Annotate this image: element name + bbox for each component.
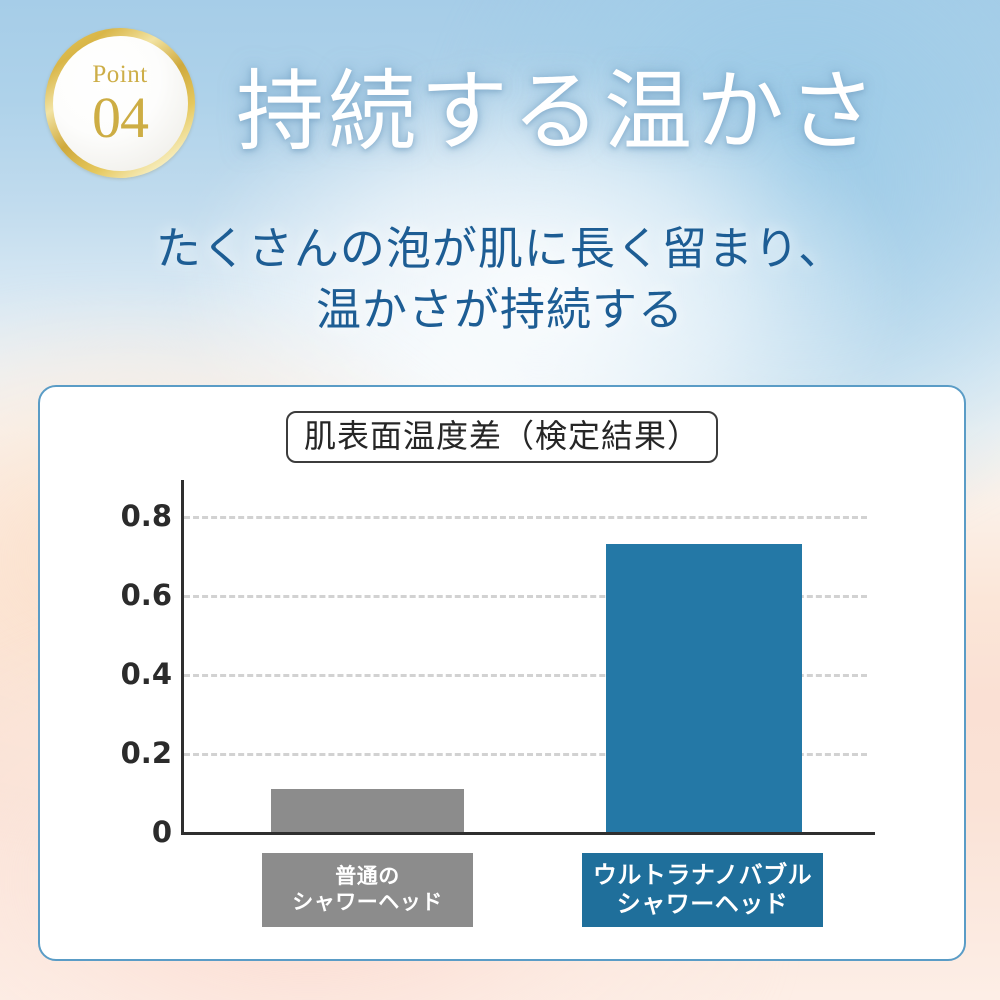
x-axis-line [181, 832, 875, 835]
category-label-line-2: シャワーヘッド [593, 890, 812, 919]
page-title: 持続する温かさ [236, 44, 976, 164]
y-axis-tick-label: 0.8 [92, 499, 172, 533]
y-axis-tick-labels: 00.20.40.60.8 [92, 387, 172, 963]
gridline [184, 516, 867, 519]
category-label-text: ウルトラナノバブルシャワーヘッド [593, 861, 812, 920]
y-axis-line [181, 480, 184, 835]
y-axis-tick-label: 0.6 [92, 578, 172, 612]
category-label-line-1: ウルトラナノバブル [593, 861, 812, 890]
y-axis-tick-label: 0.2 [92, 736, 172, 770]
bar [271, 789, 464, 832]
category-label-line-2: シャワーヘッド [292, 890, 443, 916]
subtitle: たくさんの泡が肌に長く留まり、 温かさが持続する [0, 218, 1000, 340]
bar [606, 544, 802, 832]
point-badge: Point 04 [45, 28, 195, 178]
chart-card: 肌表面温度差（検定結果） 00.20.40.60.8 普通のシャワーヘッドウルト… [38, 385, 966, 961]
point-badge-number: 04 [92, 90, 148, 145]
bar-chart-plot: 00.20.40.60.8 普通のシャワーヘッドウルトラナノバブルシャワーヘッド [40, 387, 968, 963]
category-label: ウルトラナノバブルシャワーヘッド [582, 853, 823, 927]
y-axis-tick-label: 0 [92, 815, 172, 849]
category-label-text: 普通のシャワーヘッド [292, 864, 443, 915]
point-badge-inner: Point 04 [53, 36, 188, 171]
poster-stage: Point 04 持続する温かさ たくさんの泡が肌に長く留まり、 温かさが持続す… [0, 0, 1000, 1000]
subtitle-line-1: たくさんの泡が肌に長く留まり、 [0, 218, 1000, 279]
category-label-line-1: 普通の [292, 864, 443, 890]
y-axis-tick-label: 0.4 [92, 657, 172, 691]
subtitle-line-2: 温かさが持続する [0, 279, 1000, 340]
category-label: 普通のシャワーヘッド [262, 853, 473, 927]
point-badge-word: Point [92, 62, 147, 87]
